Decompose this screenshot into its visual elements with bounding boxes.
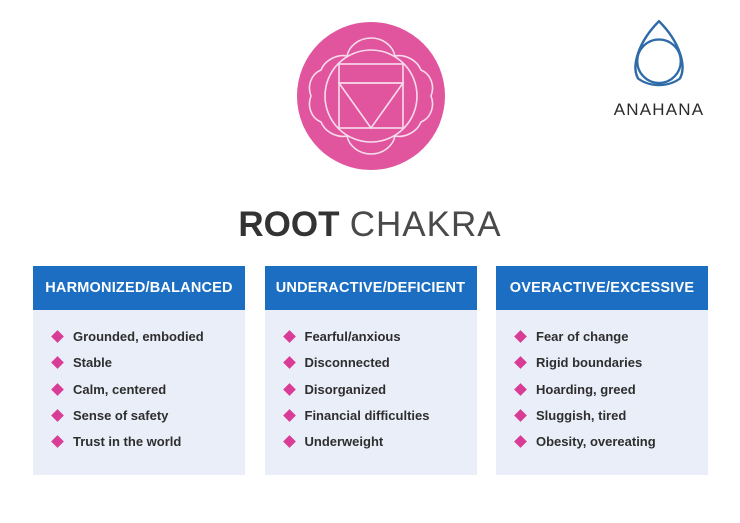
list-item-label: Trust in the world [73,435,181,449]
brand-logo: ANAHANA [604,16,714,120]
list-item-label: Stable [73,356,112,370]
list-item: Rigid boundaries [516,356,698,370]
diamond-bullet-icon [283,435,296,448]
list-item: Hoarding, greed [516,383,698,397]
root-chakra-muladhara-icon [297,22,445,170]
list-item: Sense of safety [53,409,235,423]
diamond-bullet-icon [514,356,527,369]
list-item-label: Hoarding, greed [536,383,636,397]
list-item-label: Underweight [305,435,384,449]
chakra-states-table: HARMONIZED/BALANCED Grounded, embodied S… [33,266,708,475]
diamond-bullet-icon [283,356,296,369]
column-overactive: OVERACTIVE/EXCESSIVE Fear of change Rigi… [496,266,708,475]
diamond-bullet-icon [51,435,64,448]
list-item: Underweight [285,435,467,449]
page-title-light: CHAKRA [350,205,502,244]
list-item-label: Financial difficulties [305,409,430,423]
column-header-underactive: UNDERACTIVE/DEFICIENT [265,266,477,310]
list-item-label: Obesity, overeating [536,435,656,449]
page-title-bold: ROOT [238,205,339,244]
list-item: Trust in the world [53,435,235,449]
diamond-bullet-icon [51,383,64,396]
list-item: Disorganized [285,383,467,397]
list-item: Calm, centered [53,383,235,397]
list-underactive: Fearful/anxious Disconnected Disorganize… [285,330,467,449]
list-item: Fear of change [516,330,698,344]
diamond-bullet-icon [514,383,527,396]
list-item: Obesity, overeating [516,435,698,449]
list-item-label: Calm, centered [73,383,166,397]
diamond-bullet-icon [283,330,296,343]
diamond-bullet-icon [514,330,527,343]
list-item: Fearful/anxious [285,330,467,344]
brand-wordmark: ANAHANA [604,100,714,120]
diamond-bullet-icon [514,409,527,422]
list-item-label: Fear of change [536,330,628,344]
list-item-label: Sense of safety [73,409,168,423]
list-item-label: Rigid boundaries [536,356,642,370]
column-header-overactive: OVERACTIVE/EXCESSIVE [496,266,708,310]
list-item: Stable [53,356,235,370]
list-item-label: Grounded, embodied [73,330,204,344]
diamond-bullet-icon [514,435,527,448]
column-underactive: UNDERACTIVE/DEFICIENT Fearful/anxious Di… [265,266,477,475]
list-item: Sluggish, tired [516,409,698,423]
column-body-underactive: Fearful/anxious Disconnected Disorganize… [265,310,477,475]
diamond-bullet-icon [283,383,296,396]
list-item-label: Fearful/anxious [305,330,401,344]
triquetra-icon [615,16,703,96]
list-item: Financial difficulties [285,409,467,423]
list-item-label: Disorganized [305,383,387,397]
list-overactive: Fear of change Rigid boundaries Hoarding… [516,330,698,449]
diamond-bullet-icon [283,409,296,422]
column-body-harmonized: Grounded, embodied Stable Calm, centered… [33,310,245,475]
list-item-label: Sluggish, tired [536,409,626,423]
column-harmonized: HARMONIZED/BALANCED Grounded, embodied S… [33,266,245,475]
list-item-label: Disconnected [305,356,390,370]
list-harmonized: Grounded, embodied Stable Calm, centered… [53,330,235,449]
diamond-bullet-icon [51,356,64,369]
diamond-bullet-icon [51,330,64,343]
page-title: ROOT CHAKRA [0,205,740,245]
column-body-overactive: Fear of change Rigid boundaries Hoarding… [496,310,708,475]
list-item: Disconnected [285,356,467,370]
list-item: Grounded, embodied [53,330,235,344]
diamond-bullet-icon [51,409,64,422]
column-header-harmonized: HARMONIZED/BALANCED [33,266,245,310]
